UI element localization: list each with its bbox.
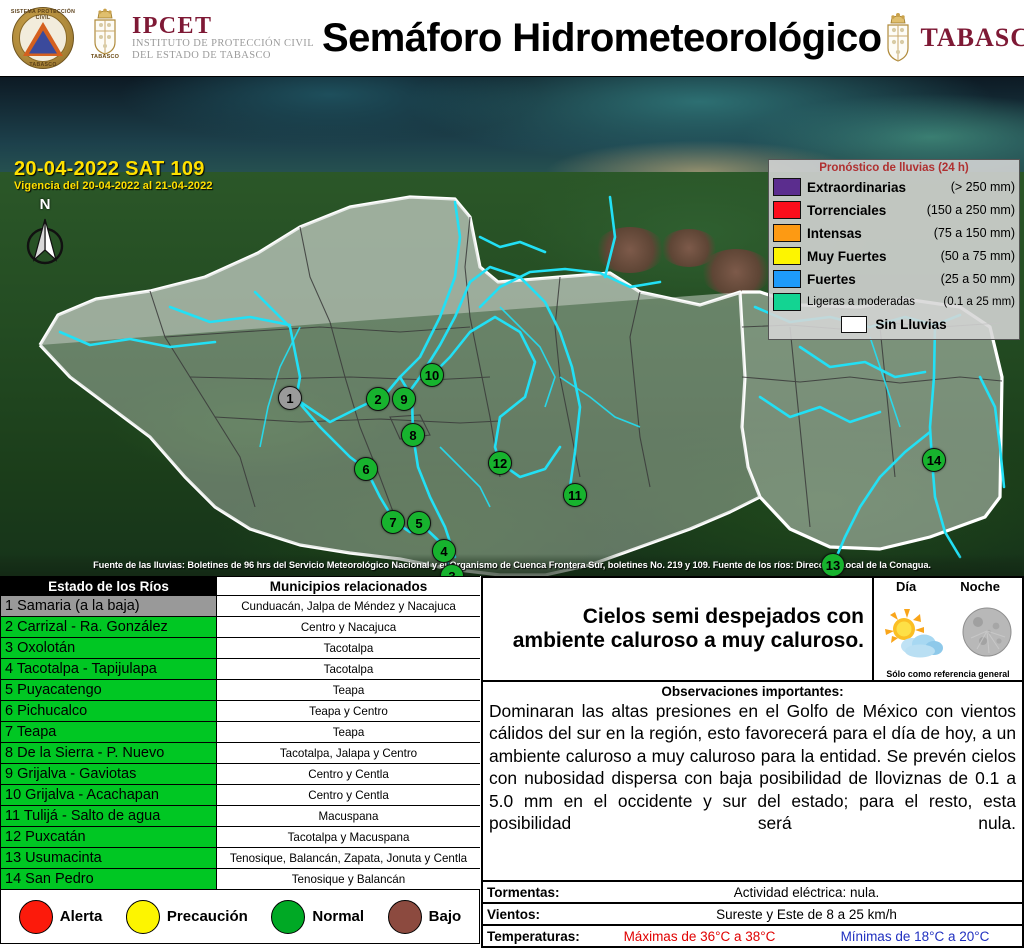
municipality-cell: Tenosique y Balancán bbox=[217, 869, 481, 890]
proteccion-civil-seal-icon: SISTEMA PROTECCIÓN CIVIL TABASCO bbox=[10, 5, 76, 71]
rain-legend: Pronóstico de lluvias (24 h) Extraordina… bbox=[768, 159, 1020, 340]
legend-item-sin-lluvias: Sin Lluvias bbox=[773, 314, 1015, 336]
legend-item: Ligeras a moderadas (0.1 a 25 mm) bbox=[773, 291, 1015, 314]
status-legend-item-precaucion: Precaución bbox=[126, 900, 248, 934]
legend-item: Torrenciales (150 a 250 mm) bbox=[773, 199, 1015, 222]
status-dot-normal bbox=[271, 900, 305, 934]
observations-box: Observaciones importantes: Dominaran las… bbox=[481, 682, 1024, 882]
ipcet-line1: INSTITUTO DE PROTECCIÓN CIVIL bbox=[132, 38, 314, 50]
river-marker-7[interactable]: 7 bbox=[381, 510, 405, 534]
table-row[interactable]: 4 Tacotalpa - Tapijulapa Tacotalpa bbox=[1, 659, 481, 680]
legend-label: Intensas bbox=[807, 226, 862, 241]
legend-item: Fuertes (25 a 50 mm) bbox=[773, 268, 1015, 291]
winds-row: Vientos: Sureste y Este de 8 a 25 km/h bbox=[481, 904, 1024, 926]
map-date-main: 20-04-2022 SAT 109 bbox=[14, 159, 213, 180]
river-name-cell: 1 Samaria (a la baja) bbox=[1, 596, 217, 617]
ipcet-wordmark: IPCET INSTITUTO DE PROTECCIÓN CIVIL DEL … bbox=[132, 14, 314, 63]
temperatures-row: Temperaturas: Máximas de 36°C a 38°C Mín… bbox=[481, 926, 1024, 948]
moon-icon bbox=[959, 605, 1015, 659]
rain-forecast-map[interactable]: 20-04-2022 SAT 109 Vigencia del 20-04-20… bbox=[0, 76, 1024, 576]
legend-range: (150 a 250 mm) bbox=[927, 203, 1015, 217]
table-row[interactable]: 11 Tulijá - Salto de agua Macuspana bbox=[1, 806, 481, 827]
legend-item: Intensas (75 a 150 mm) bbox=[773, 222, 1015, 245]
page-title: Semáforo Hidrometeorológico bbox=[322, 16, 881, 61]
status-legend-item-alerta: Alerta bbox=[19, 900, 103, 934]
state-name-label: TABASCO bbox=[920, 23, 1024, 53]
sun-cloud-icon bbox=[882, 605, 944, 659]
legend-swatch-torrenciales bbox=[773, 201, 801, 219]
seal-bottom-text: TABASCO bbox=[10, 62, 76, 68]
table-row[interactable]: 13 Usumacinta Tenosique, Balancán, Zapat… bbox=[1, 848, 481, 869]
municipality-cell: Teapa bbox=[217, 680, 481, 701]
river-marker-4[interactable]: 4 bbox=[432, 539, 456, 563]
storms-row: Tormentas: Actividad eléctrica: nula. bbox=[481, 882, 1024, 904]
table-row[interactable]: 10 Grijalva - Acachapan Centro y Centla bbox=[1, 785, 481, 806]
table-row[interactable]: 3 Oxolotán Tacotalpa bbox=[1, 638, 481, 659]
legend-label: Fuertes bbox=[807, 272, 856, 287]
tabasco-shield-icon-right bbox=[881, 12, 915, 64]
map-date-banner: 20-04-2022 SAT 109 Vigencia del 20-04-20… bbox=[14, 159, 213, 192]
winds-label: Vientos: bbox=[483, 907, 591, 922]
municipality-cell: Tacotalpa y Macuspana bbox=[217, 827, 481, 848]
legend-range: (25 a 50 mm) bbox=[941, 272, 1015, 286]
legend-item: Muy Fuertes (50 a 75 mm) bbox=[773, 245, 1015, 268]
forecast-panel: Cielos semi despejados con ambiente calu… bbox=[480, 576, 1024, 948]
legend-swatch-fuertes bbox=[773, 270, 801, 288]
table-row[interactable]: 1 Samaria (a la baja) Cunduacán, Jalpa d… bbox=[1, 596, 481, 617]
map-source-attribution: Fuente de las lluvias: Boletines de 96 h… bbox=[0, 554, 1024, 576]
municipality-cell: Tacotalpa bbox=[217, 659, 481, 680]
legend-title: Pronóstico de lluvias (24 h) bbox=[773, 162, 1015, 175]
river-marker-1[interactable]: 1 bbox=[278, 386, 302, 410]
river-marker-12[interactable]: 12 bbox=[488, 451, 512, 475]
municipality-cell: Cunduacán, Jalpa de Méndez y Nacajuca bbox=[217, 596, 481, 617]
page-header: SISTEMA PROTECCIÓN CIVIL TABASCO TABASCO… bbox=[0, 0, 1024, 76]
shield-caption: TABASCO bbox=[88, 54, 122, 60]
forecast-summary-row: Cielos semi despejados con ambiente calu… bbox=[481, 576, 1024, 682]
river-name-cell: 9 Grijalva - Gaviotas bbox=[1, 764, 217, 785]
legend-swatch-ligeras bbox=[773, 293, 801, 311]
table-row[interactable]: 7 Teapa Teapa bbox=[1, 722, 481, 743]
storms-value: Actividad eléctrica: nula. bbox=[591, 885, 1022, 900]
seal-top-text: SISTEMA PROTECCIÓN CIVIL bbox=[10, 9, 76, 21]
night-label: Noche bbox=[960, 579, 1000, 594]
legend-label: Torrenciales bbox=[807, 203, 886, 218]
legend-swatch-extraordinarias bbox=[773, 178, 801, 196]
legend-label: Sin Lluvias bbox=[875, 317, 946, 332]
legend-swatch-sin-lluvias bbox=[841, 316, 867, 333]
reference-note: Sólo como referencia general bbox=[886, 669, 1009, 680]
legend-item: Extraordinarias (> 250 mm) bbox=[773, 176, 1015, 199]
column-header-rios: Estado de los Ríos bbox=[1, 577, 217, 596]
tabasco-state-logo: TABASCO bbox=[881, 12, 1024, 64]
table-row[interactable]: 12 Puxcatán Tacotalpa y Macuspana bbox=[1, 827, 481, 848]
table-row[interactable]: 5 Puyacatengo Teapa bbox=[1, 680, 481, 701]
temperatures-label: Temperaturas: bbox=[483, 929, 591, 944]
status-dot-bajo bbox=[388, 900, 422, 934]
municipality-cell: Tenosique, Balancán, Zapata, Jonuta y Ce… bbox=[217, 848, 481, 869]
status-label: Bajo bbox=[429, 908, 462, 925]
status-legend-item-bajo: Bajo bbox=[388, 900, 462, 934]
river-marker-10[interactable]: 10 bbox=[420, 363, 444, 387]
municipality-cell: Centro y Centla bbox=[217, 785, 481, 806]
storms-label: Tormentas: bbox=[483, 885, 591, 900]
legend-range: (> 250 mm) bbox=[951, 180, 1015, 194]
legend-range: (75 a 150 mm) bbox=[934, 226, 1015, 240]
temperature-max-value: Máximas de 36°C a 38°C bbox=[624, 929, 776, 944]
status-label: Precaución bbox=[167, 908, 248, 925]
table-row[interactable]: 9 Grijalva - Gaviotas Centro y Centla bbox=[1, 764, 481, 785]
temperature-min-value: Mínimas de 18°C a 20°C bbox=[841, 929, 990, 944]
observations-title: Observaciones importantes: bbox=[489, 684, 1016, 699]
table-header-row: Estado de los Ríos Municipios relacionad… bbox=[1, 577, 481, 596]
river-name-cell: 11 Tulijá - Salto de agua bbox=[1, 806, 217, 827]
status-color-legend: Alerta Precaución Normal Bajo bbox=[0, 890, 480, 944]
river-name-cell: 14 San Pedro bbox=[1, 869, 217, 890]
day-night-reference: Día Noche bbox=[873, 576, 1024, 682]
river-marker-11[interactable]: 11 bbox=[563, 483, 587, 507]
river-marker-8[interactable]: 8 bbox=[401, 423, 425, 447]
river-name-cell: 4 Tacotalpa - Tapijulapa bbox=[1, 659, 217, 680]
municipality-cell: Macuspana bbox=[217, 806, 481, 827]
table-row[interactable]: 6 Pichucalco Teapa y Centro bbox=[1, 701, 481, 722]
day-label: Día bbox=[896, 579, 916, 594]
river-marker-5[interactable]: 5 bbox=[407, 511, 431, 535]
map-date-validity: Vigencia del 20-04-2022 al 21-04-2022 bbox=[14, 180, 213, 192]
table-row[interactable]: 14 San Pedro Tenosique y Balancán bbox=[1, 869, 481, 890]
legend-range: (50 a 75 mm) bbox=[941, 249, 1015, 263]
legend-swatch-intensas bbox=[773, 224, 801, 242]
river-name-cell: 13 Usumacinta bbox=[1, 848, 217, 869]
river-name-cell: 10 Grijalva - Acachapan bbox=[1, 785, 217, 806]
ipcet-abbrev: IPCET bbox=[132, 14, 314, 38]
status-label: Alerta bbox=[60, 908, 103, 925]
municipality-cell: Teapa y Centro bbox=[217, 701, 481, 722]
winds-value: Sureste y Este de 8 a 25 km/h bbox=[591, 907, 1022, 922]
municipality-cell: Tacotalpa, Jalapa y Centro bbox=[217, 743, 481, 764]
status-legend-item-normal: Normal bbox=[271, 900, 364, 934]
rivers-panel: Estado de los Ríos Municipios relacionad… bbox=[0, 576, 480, 948]
bottom-section: Estado de los Ríos Municipios relacionad… bbox=[0, 576, 1024, 948]
river-name-cell: 7 Teapa bbox=[1, 722, 217, 743]
river-name-cell: 5 Puyacatengo bbox=[1, 680, 217, 701]
legend-label: Ligeras a moderadas bbox=[807, 296, 915, 308]
river-name-cell: 3 Oxolotán bbox=[1, 638, 217, 659]
river-name-cell: 6 Pichucalco bbox=[1, 701, 217, 722]
river-marker-2[interactable]: 2 bbox=[366, 387, 390, 411]
river-name-cell: 12 Puxcatán bbox=[1, 827, 217, 848]
column-header-municipios: Municipios relacionados bbox=[217, 577, 481, 596]
river-name-cell: 8 De la Sierra - P. Nuevo bbox=[1, 743, 217, 764]
river-marker-6[interactable]: 6 bbox=[354, 457, 378, 481]
table-row[interactable]: 8 De la Sierra - P. Nuevo Tacotalpa, Jal… bbox=[1, 743, 481, 764]
river-marker-9[interactable]: 9 bbox=[392, 387, 416, 411]
ipcet-line2: DEL ESTADO DE TABASCO bbox=[132, 50, 314, 62]
municipality-cell: Centro y Centla bbox=[217, 764, 481, 785]
river-name-cell: 2 Carrizal - Ra. González bbox=[1, 617, 217, 638]
status-dot-precaucion bbox=[126, 900, 160, 934]
status-label: Normal bbox=[312, 908, 364, 925]
north-arrow-icon: N bbox=[22, 197, 68, 274]
table-row[interactable]: 2 Carrizal - Ra. González Centro y Nacaj… bbox=[1, 617, 481, 638]
observations-text: Dominaran las altas presiones en el Golf… bbox=[489, 700, 1016, 835]
legend-swatch-muy-fuertes bbox=[773, 247, 801, 265]
forecast-summary-text: Cielos semi despejados con ambiente calu… bbox=[481, 576, 873, 682]
river-marker-13[interactable]: 13 bbox=[821, 553, 845, 576]
legend-range: (0.1 a 25 mm) bbox=[943, 296, 1015, 308]
tabasco-shield-icon-left: TABASCO bbox=[88, 8, 122, 68]
municipality-cell: Tacotalpa bbox=[217, 638, 481, 659]
status-dot-alerta bbox=[19, 900, 53, 934]
legend-label: Extraordinarias bbox=[807, 180, 906, 195]
legend-label: Muy Fuertes bbox=[807, 249, 887, 264]
north-label: N bbox=[22, 197, 68, 212]
rivers-status-table: Estado de los Ríos Municipios relacionad… bbox=[0, 576, 481, 890]
municipality-cell: Teapa bbox=[217, 722, 481, 743]
river-marker-14[interactable]: 14 bbox=[922, 448, 946, 472]
municipality-cell: Centro y Nacajuca bbox=[217, 617, 481, 638]
